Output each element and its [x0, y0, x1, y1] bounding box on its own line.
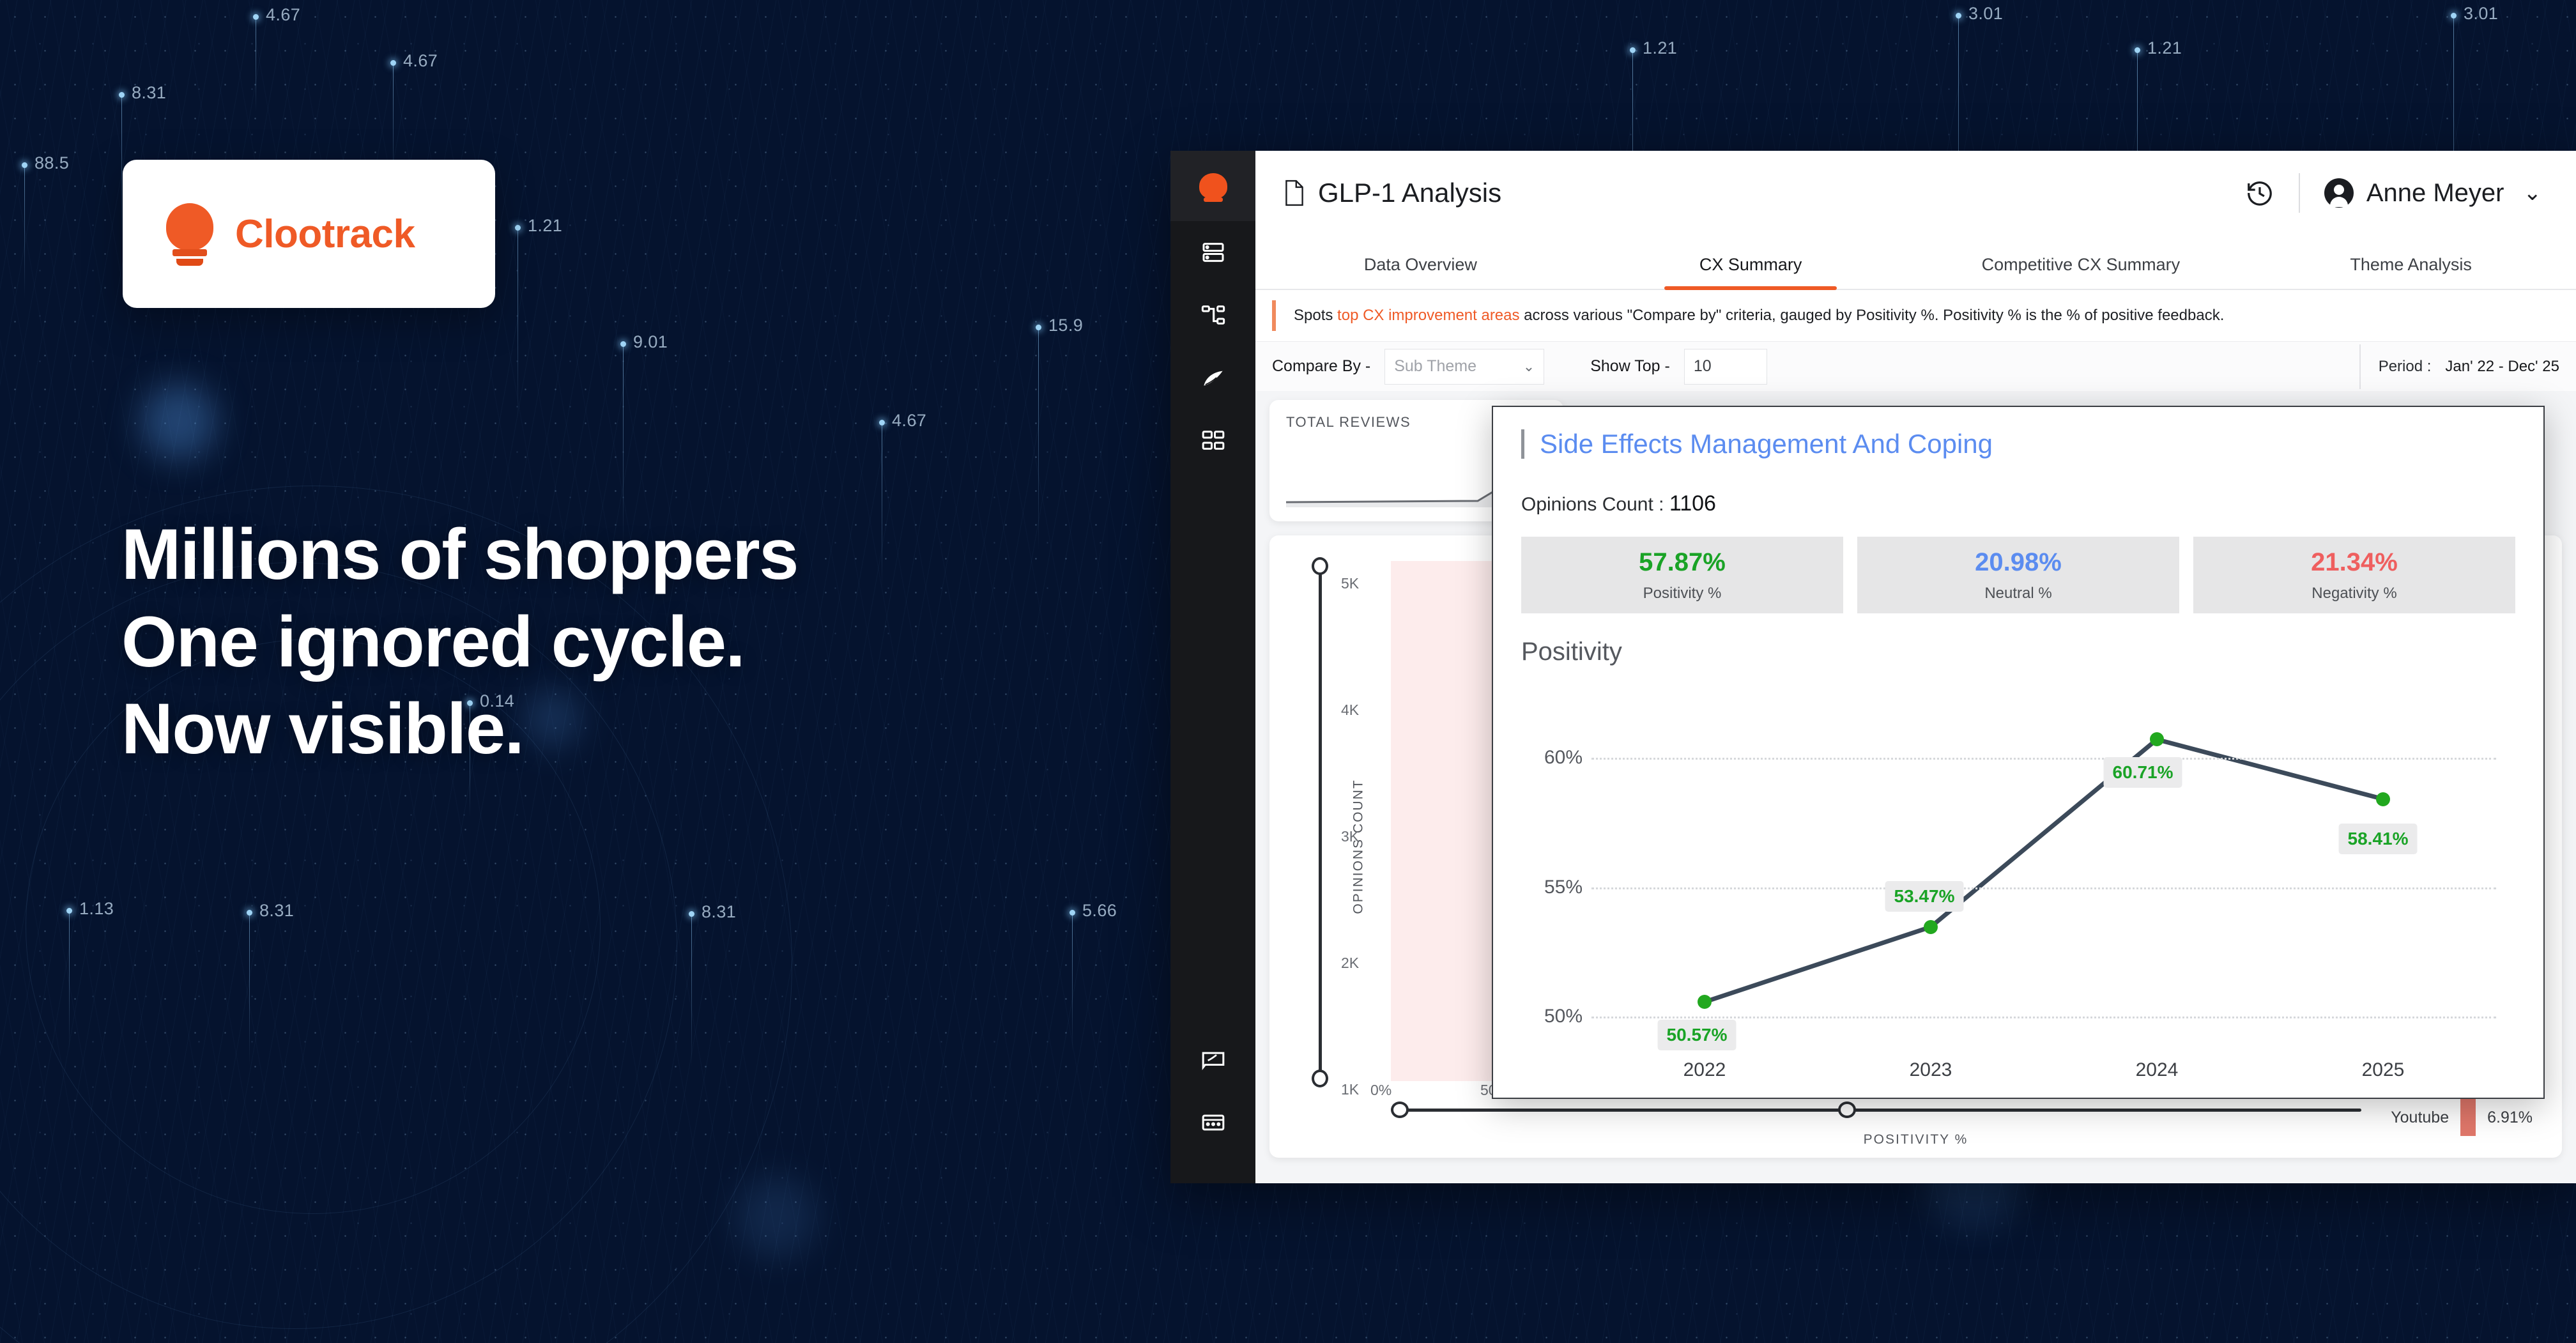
popup-title-row: Side Effects Management And Coping	[1521, 429, 2515, 459]
hero-marker-pin	[1956, 13, 1961, 19]
stat-negativity: 21.34% Negativity %	[2193, 537, 2515, 613]
hero-marker-stem	[121, 95, 122, 248]
banner-accent-bar	[1272, 300, 1276, 331]
chart-x-tick-label: 2023	[1910, 1059, 1952, 1081]
chart-title: Positivity	[1521, 638, 2515, 666]
chart-gridline	[1591, 887, 2496, 889]
chart-gridline	[1591, 1017, 2496, 1018]
header-right-group: Anne Meyer ⌄	[2245, 173, 2541, 213]
hero-marker-label: 1.21	[1643, 38, 1677, 58]
hero-marker-pin	[1630, 47, 1636, 53]
hero-glow-4	[735, 1176, 818, 1259]
user-avatar-icon[interactable]	[2324, 178, 2354, 208]
hero-marker-pin	[879, 420, 885, 426]
chart-data-label: 50.57%	[1658, 1020, 1736, 1050]
show-top-input[interactable]: 10	[1684, 349, 1767, 385]
opinions-count-row: Opinions Count : 1106	[1521, 491, 2515, 516]
hero-marker-label: 1.21	[528, 216, 562, 236]
chart-data-point[interactable]	[1924, 920, 1938, 934]
tab-competitive-cx-summary[interactable]: Competitive CX Summary	[1916, 255, 2246, 289]
stat-neutral: 20.98% Neutral %	[1857, 537, 2179, 613]
header-divider	[2299, 173, 2300, 213]
sidebar-item-calendar[interactable]	[1170, 1091, 1255, 1154]
chart-x-tick-label: 2025	[2362, 1059, 2405, 1081]
chart-data-point[interactable]	[2150, 732, 2164, 746]
compare-by-value: Sub Theme	[1394, 357, 1476, 376]
chart-line-svg	[1591, 701, 2496, 1048]
stat-label: Neutral %	[1984, 585, 2051, 602]
hero-marker-label: 88.5	[34, 153, 69, 173]
note-edit-icon	[1200, 1047, 1226, 1073]
scatter-x-axis-title: POSITIVITY %	[1864, 1132, 1968, 1147]
positivity-range-slider[interactable]	[1391, 1101, 2370, 1118]
stat-value: 57.87%	[1639, 548, 1726, 577]
clootrack-logo-card: Clootrack	[123, 160, 495, 308]
database-icon	[1200, 240, 1226, 265]
hero-marker-label: 8.31	[132, 83, 166, 103]
hero-marker-pin	[253, 14, 259, 20]
show-top-label: Show Top -	[1590, 357, 1670, 376]
chart-x-tick-label: 2022	[1683, 1059, 1726, 1081]
hero-marker-stem	[249, 912, 250, 1066]
hero-marker-pin	[515, 225, 521, 231]
sentiment-stats: 57.87% Positivity % 20.98% Neutral % 21.…	[1521, 537, 2515, 613]
document-icon	[1284, 180, 1305, 206]
chart-data-point[interactable]	[1698, 995, 1712, 1009]
hero-marker-label: 4.67	[266, 5, 300, 25]
hero-marker-label: 15.9	[1048, 316, 1083, 335]
hero-marker-label: 4.67	[892, 411, 926, 431]
legend-color-swatch	[2460, 1099, 2476, 1136]
hero-marker-pin	[620, 341, 626, 347]
tab-theme-analysis[interactable]: Theme Analysis	[2246, 255, 2576, 289]
chart-data-label: 60.71%	[2104, 757, 2182, 788]
page-title: GLP-1 Analysis	[1318, 178, 1501, 208]
scatter-legend: Youtube 6.91%	[2391, 1099, 2533, 1136]
scatter-y-axis-title: OPINIONS COUNT	[1351, 779, 1367, 914]
chart-y-tick-label: 55%	[1521, 877, 1583, 898]
legend-source-value: 6.91%	[2487, 1109, 2533, 1127]
chevron-down-icon: ⌄	[1523, 358, 1535, 375]
scatter-y-tick: 2K	[1341, 955, 1359, 972]
legend-source-name: Youtube	[2391, 1109, 2449, 1127]
hero-marker-stem	[69, 910, 70, 1051]
hero-marker-label: 1.21	[2147, 38, 2182, 58]
chart-y-tick-label: 60%	[1521, 747, 1583, 769]
history-clock-icon[interactable]	[2245, 178, 2274, 208]
hero-marker-label: 8.31	[701, 902, 736, 922]
sidebar-logo[interactable]	[1170, 151, 1255, 221]
hero-marker-label: 3.01	[1968, 4, 2003, 24]
hero-marker-label: 1.13	[79, 899, 114, 919]
chart-data-point[interactable]	[2376, 792, 2390, 806]
period-label: Period :	[2379, 358, 2432, 376]
hero-marker-pin	[1036, 325, 1041, 330]
hero-marker-label: 8.31	[259, 901, 294, 921]
positivity-line-chart: 50%55%60%50.57%53.47%60.71%58.41% 202220…	[1521, 682, 2515, 1098]
scatter-x-tick: 0%	[1370, 1082, 1391, 1099]
sidebar-item-data[interactable]	[1170, 221, 1255, 284]
stat-positivity: 57.87% Positivity %	[1521, 537, 1843, 613]
feather-icon	[1200, 365, 1226, 390]
hero-marker-pin	[2451, 13, 2457, 19]
hero-marker-stem	[1072, 912, 1073, 1053]
sitemap-icon	[1200, 302, 1226, 328]
chart-x-tick-label: 2024	[2136, 1059, 2179, 1081]
stat-label: Negativity %	[2311, 585, 2396, 602]
tab-data-overview[interactable]: Data Overview	[1255, 255, 1586, 289]
scatter-y-tick: 1K	[1341, 1081, 1359, 1098]
app-sidebar	[1170, 151, 1255, 1183]
app-header: GLP-1 Analysis Anne Meyer ⌄	[1255, 151, 2576, 235]
popup-title[interactable]: Side Effects Management And Coping	[1540, 429, 1993, 459]
hero-marker-pin	[390, 60, 396, 66]
user-name-label: Anne Meyer	[2366, 179, 2504, 208]
headline-line-3: Now visible.	[121, 686, 1207, 773]
chart-data-label: 58.41%	[2339, 824, 2418, 854]
banner-suffix: across various "Compare by" criteria, ga…	[1520, 307, 2225, 324]
hero-marker-pin	[22, 162, 27, 168]
compare-by-label: Compare By -	[1272, 357, 1370, 376]
opinions-count-label: Opinions Count :	[1521, 494, 1664, 515]
hero-headline: Millions of shoppers One ignored cycle. …	[121, 511, 1207, 773]
logo-wordmark: Clootrack	[235, 211, 415, 257]
tab-cx-summary[interactable]: CX Summary	[1586, 255, 1916, 289]
headline-line-1: Millions of shoppers	[121, 511, 1207, 599]
lightbulb-icon	[166, 203, 213, 265]
chart-gridline	[1591, 758, 2496, 760]
hero-marker-pin	[1069, 910, 1075, 916]
period-display: Period : Jan' 22 - Dec' 25	[2359, 344, 2559, 389]
scatter-y-tick: 4K	[1341, 702, 1359, 719]
calendar-icon	[1200, 1110, 1226, 1135]
hero-marker-label: 4.67	[403, 51, 438, 71]
hero-marker-label: 3.01	[2464, 4, 2498, 24]
scatter-y-tick: 5K	[1341, 575, 1359, 592]
hero-marker-stem	[24, 165, 25, 299]
chart-data-label: 53.47%	[1885, 881, 1964, 912]
chart-plot-area: 50%55%60%50.57%53.47%60.71%58.41%	[1591, 701, 2496, 1048]
stat-label: Positivity %	[1643, 585, 1722, 602]
chevron-down-icon[interactable]: ⌄	[2524, 182, 2542, 204]
hero-marker-pin	[66, 908, 72, 914]
popup-accent-bar	[1521, 429, 1524, 459]
hero-glow-1	[141, 383, 217, 460]
banner-prefix: Spots	[1294, 307, 1337, 324]
banner-text: Spots top CX improvement areas across va…	[1294, 307, 2224, 325]
sidebar-item-notes[interactable]	[1170, 1029, 1255, 1091]
theme-detail-popup: Side Effects Management And Coping Opini…	[1492, 406, 2545, 1099]
opinions-count-range-slider[interactable]	[1312, 557, 1328, 1087]
hero-marker-pin	[119, 92, 125, 98]
filter-bar: Compare By - Sub Theme ⌄ Show Top - 10 P…	[1255, 341, 2576, 391]
banner-highlight: top CX improvement areas	[1337, 307, 1519, 324]
period-value: Jan' 22 - Dec' 25	[2445, 358, 2559, 376]
stat-value: 20.98%	[1975, 548, 2062, 577]
hero-marker-stem	[517, 227, 518, 419]
sidebar-item-taxonomy[interactable]	[1170, 284, 1255, 346]
chart-y-tick-label: 50%	[1521, 1006, 1583, 1027]
stat-value: 21.34%	[2311, 548, 2398, 577]
tab-bar: Data Overview CX Summary Competitive CX …	[1255, 235, 2576, 290]
hero-marker-pin	[2135, 47, 2140, 53]
scatter-y-tick: 3K	[1341, 828, 1359, 845]
sidebar-item-insights[interactable]	[1170, 346, 1255, 409]
hero-marker-label: 5.66	[1082, 901, 1117, 921]
hero-marker-stem	[691, 914, 692, 1067]
grid-icon	[1200, 427, 1226, 453]
opinions-count-value: 1106	[1669, 491, 1716, 516]
hero-marker-stem	[256, 17, 256, 112]
hero-marker-pin	[689, 911, 694, 917]
sidebar-item-dashboards[interactable]	[1170, 409, 1255, 472]
hero-marker-pin	[247, 910, 252, 916]
info-banner: Spots top CX improvement areas across va…	[1255, 290, 2576, 341]
compare-by-select[interactable]: Sub Theme ⌄	[1384, 349, 1544, 385]
headline-line-2: One ignored cycle.	[121, 599, 1207, 686]
hero-marker-label: 9.01	[633, 332, 668, 352]
